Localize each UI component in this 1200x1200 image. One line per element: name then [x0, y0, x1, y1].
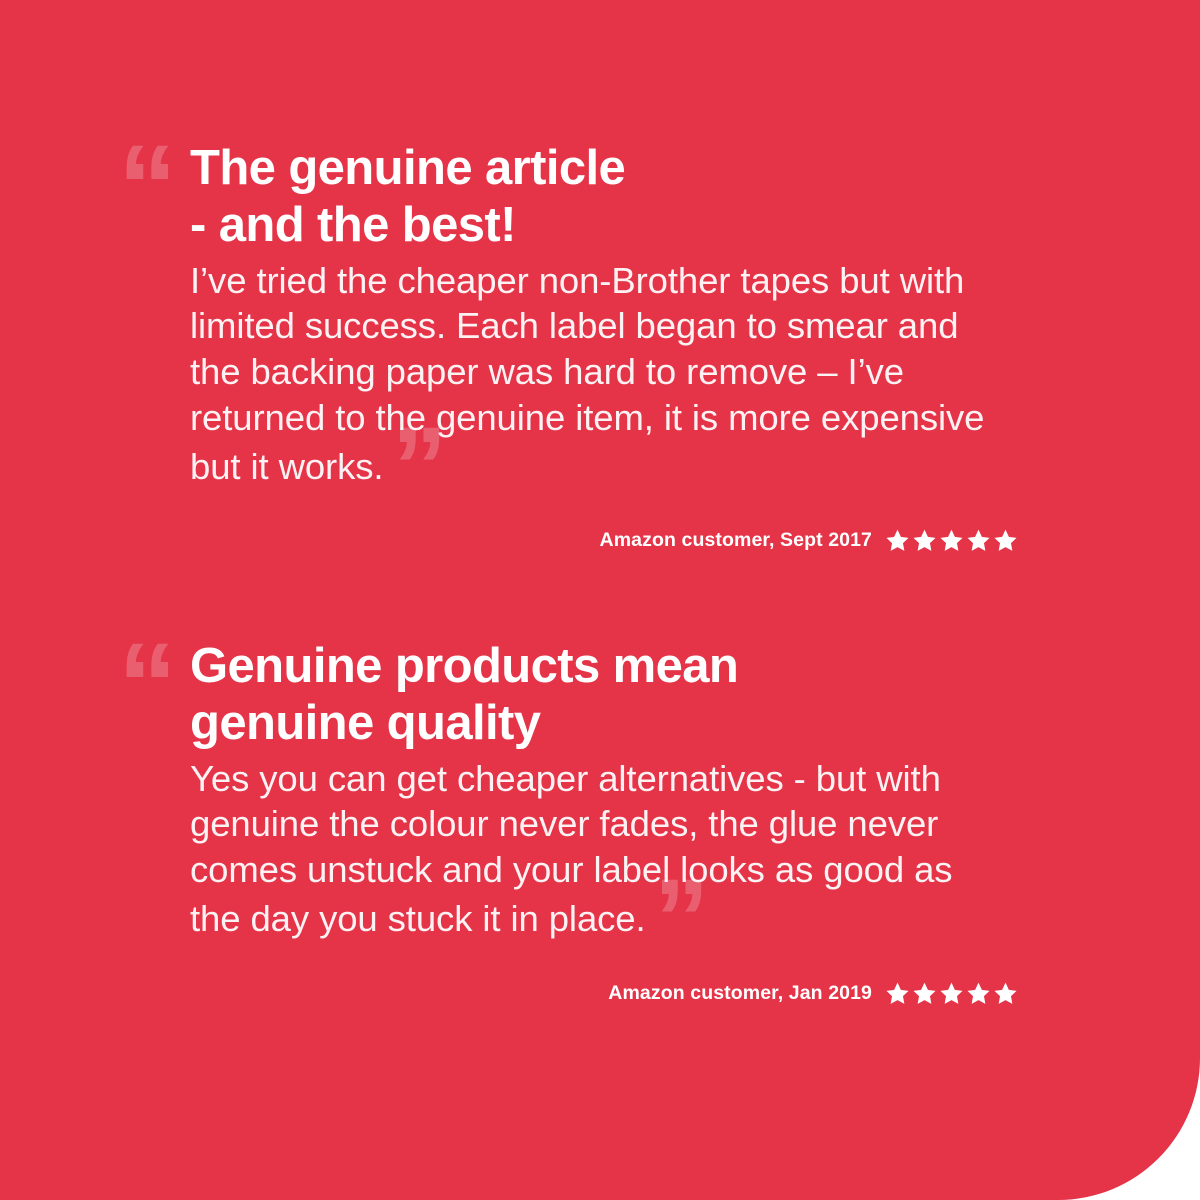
testimonial-2-text: Yes you can get cheaper alternatives - b…	[190, 756, 1010, 942]
testimonial-2-body: Genuine products mean genuine quality Ye…	[190, 638, 1018, 942]
open-quote-icon: “	[118, 632, 186, 712]
testimonial-1-body: The genuine article - and the best! I’ve…	[190, 140, 1018, 490]
testimonial-2-text-content: Yes you can get cheaper alternatives - b…	[190, 758, 952, 939]
star-icon	[912, 981, 937, 1006]
testimonial-1: “ The genuine article - and the best! I’…	[118, 140, 1018, 490]
open-quote-icon: “	[118, 134, 186, 214]
star-icon	[885, 981, 910, 1006]
testimonial-1-rating-stars	[885, 528, 1018, 553]
testimonial-1-author: Amazon customer, Sept 2017	[600, 529, 872, 552]
testimonial-2-author: Amazon customer, Jan 2019	[608, 982, 872, 1005]
star-icon	[966, 981, 991, 1006]
testimonial-2-heading: Genuine products mean genuine quality	[190, 638, 1018, 752]
star-icon	[912, 528, 937, 553]
open-quote-glyph: “	[118, 626, 186, 744]
testimonial-1-text-content: I’ve tried the cheaper non-Brother tapes…	[190, 260, 984, 487]
star-icon	[939, 528, 964, 553]
testimonial-1-attribution: Amazon customer, Sept 2017	[118, 528, 1018, 553]
content-area: “ The genuine article - and the best! I’…	[0, 0, 1200, 1200]
testimonial-2: “ Genuine products mean genuine quality …	[118, 638, 1018, 942]
star-icon	[993, 528, 1018, 553]
testimonial-2-rating-stars	[885, 981, 1018, 1006]
open-quote-glyph: “	[118, 128, 186, 246]
testimonial-card: “ The genuine article - and the best! I’…	[0, 0, 1200, 1200]
testimonial-2-attribution: Amazon customer, Jan 2019	[118, 981, 1018, 1006]
star-icon	[993, 981, 1018, 1006]
testimonial-1-heading: The genuine article - and the best!	[190, 140, 1018, 254]
star-icon	[939, 981, 964, 1006]
star-icon	[885, 528, 910, 553]
star-icon	[966, 528, 991, 553]
testimonial-1-text: I’ve tried the cheaper non-Brother tapes…	[190, 258, 1010, 490]
